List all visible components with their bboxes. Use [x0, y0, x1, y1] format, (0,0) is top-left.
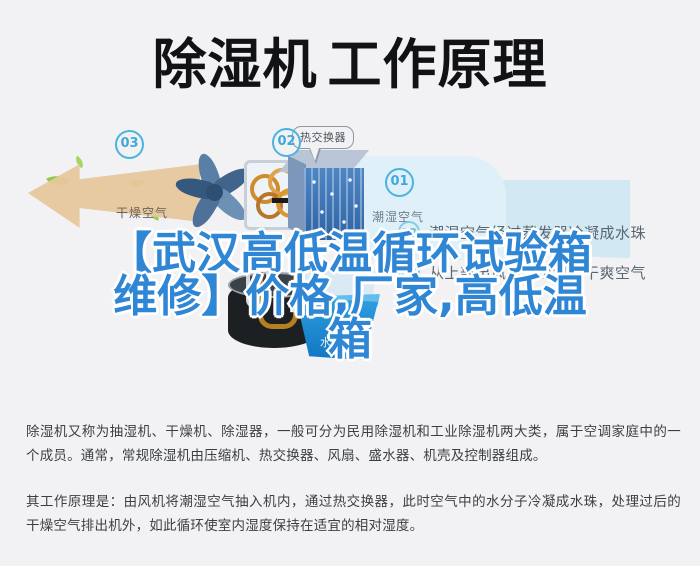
fan-hub [206, 184, 223, 201]
fan-icon [178, 148, 250, 228]
title-part-a: 除湿机 [153, 33, 318, 96]
page-root: 除湿机工作原理 干燥空气 [0, 0, 700, 566]
water-tank [296, 298, 378, 360]
water-tank-label: 水箱 [320, 334, 346, 350]
title-part-b: 工作原理 [328, 33, 548, 96]
legend-label: 从上部出风口吹出清新干爽空气 [429, 262, 646, 283]
page-title: 除湿机工作原理 [0, 36, 700, 94]
step-legend: 02 潮湿空气经过蒸发器冷凝成水珠 03 从上部出风口吹出清新干爽空气 [398, 212, 698, 292]
legend-badge: 02 [398, 221, 420, 243]
title-text: 除湿机工作原理 [153, 36, 548, 94]
body-copy: 除湿机又称为抽湿机、干燥机、除湿器，一般可分为民用除湿机和工业除湿机两大类，属于… [26, 420, 681, 538]
legend-label: 潮湿空气经过蒸发器冷凝成水珠 [429, 222, 646, 243]
legend-item: 02 潮湿空气经过蒸发器冷凝成水珠 [398, 212, 698, 252]
legend-item: 03 从上部出风口吹出清新干爽空气 [398, 252, 698, 292]
diagram-badge-02: 02 [272, 128, 301, 157]
paragraph-1: 除湿机又称为抽湿机、干燥机、除湿器，一般可分为民用除湿机和工业除湿机两大类，属于… [26, 420, 681, 468]
dry-air-arrow-icon [28, 158, 200, 234]
diagram-badge-01: 01 [385, 168, 414, 197]
heat-exchanger-callout: 热交换器 [292, 126, 354, 149]
diagram-badge-03: 03 [115, 130, 144, 159]
compressor-metal-pipe [246, 270, 270, 308]
condensation-droplets [306, 172, 362, 236]
legend-badge: 03 [398, 261, 420, 283]
dry-air-label: 干燥空气 [116, 204, 168, 221]
paragraph-2: 其工作原理是：由风机将潮湿空气抽入机内，通过热交换器，此时空气中的水分子冷凝成水… [26, 490, 681, 538]
